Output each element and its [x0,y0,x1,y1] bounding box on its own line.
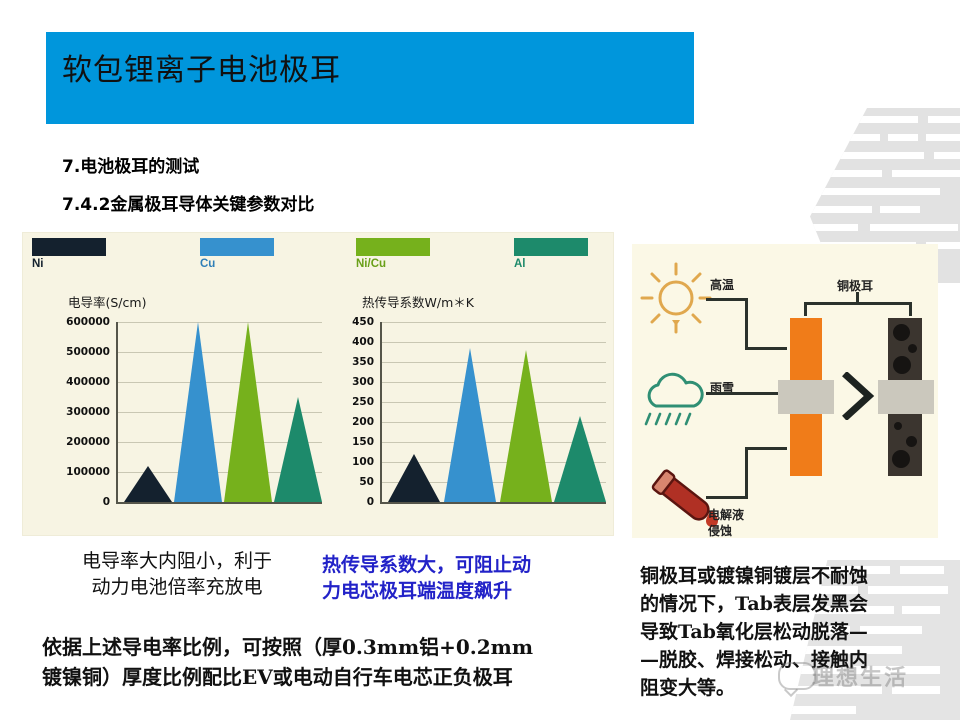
ytick-left-200000: 200000 [42,436,110,448]
ytick-left-600000: 600000 [42,316,110,328]
legend-label-al: Al [514,258,588,270]
greater-than-icon [841,372,875,420]
bar-nicu-thermal [500,350,552,502]
tab-sealant-left [778,380,834,414]
connector-high-temp-h1 [706,298,748,301]
caption-right-line1: 铜极耳或镀镍铜镀层不耐蚀 [640,562,952,590]
legend-label-nicu: Ni/Cu [356,258,430,270]
ytick-right-350: 350 [334,356,374,368]
x-axis-left-chart [116,502,322,504]
corrosion-spot [893,324,910,341]
slide-canvas: 软包锂离子电池极耳 7.电池极耳的测试 7.4.2金属极耳导体关键参数对比 Ni… [0,0,960,720]
bar-al-thermal [554,416,606,502]
caption-right-line2: 的情况下，Tab表层发黑会 [640,590,952,618]
section-heading-742: 7.4.2金属极耳导体关键参数对比 [62,190,314,215]
ytick-left-300000: 300000 [42,406,110,418]
caption-right: 铜极耳或镀镍铜镀层不耐蚀 的情况下，Tab表层发黑会 导致Tab氧化层松动脱落—… [640,562,952,702]
x-axis-right-chart [380,502,606,504]
ytick-left-400000: 400000 [42,376,110,388]
caption-thermal: 热传导系数大，可阻止动 力电芯极耳端温度飙升 [322,552,612,604]
label-high-temperature: 高温 [710,276,734,293]
caption-bottom-line2: 镀镍铜）厚度比例配比EV或电动自行车电芯正负极耳 [42,662,622,692]
caption-conductivity-line1: 电导率大内阻小，利于 [52,548,302,574]
label-electrolyte-line1: 电解液 [708,506,744,523]
connector-electrolyte-h1 [706,496,748,499]
ytick-right-250: 250 [334,396,374,408]
corrosion-spot [906,436,917,447]
corrosion-spot [908,344,917,353]
connector-electrolyte-v [745,447,748,499]
bracket-left-leg [804,302,807,316]
chart-thermal: 450 400 350 300 250 200 150 100 50 0 [334,322,606,522]
legend-item-ni: Ni [32,238,106,270]
ytick-right-50: 50 [334,476,374,488]
legend-swatch-nicu [356,238,430,256]
chart-legend: Ni Cu Ni/Cu Al [22,232,614,280]
ytick-right-400: 400 [334,336,374,348]
legend-item-nicu: Ni/Cu [356,238,430,270]
ytick-left-100000: 100000 [42,466,110,478]
legend-swatch-cu [200,238,274,256]
ytick-left-0: 0 [42,496,110,508]
charts-panel: Ni Cu Ni/Cu Al 电导率(S/cm) 600000 500000 4… [22,232,614,536]
legend-swatch-al [514,238,588,256]
corrosion-diagram: 高温 雨雪 电解液 侵蚀 铜极耳 [632,244,938,538]
bar-cu-thermal [444,348,496,502]
legend-label-ni: Ni [32,258,106,270]
ytick-right-450: 450 [334,316,374,328]
corrosion-spot [893,356,911,374]
section-heading-7: 7.电池极耳的测试 [62,152,199,177]
ytick-right-100: 100 [334,456,374,468]
sun-icon [638,260,714,336]
bracket-right-leg [909,302,912,316]
ytick-right-300: 300 [334,376,374,388]
caption-thermal-line1: 热传导系数大，可阻止动 [322,552,612,578]
page-title: 软包锂离子电池极耳 [62,45,341,89]
connector-high-temp-h2 [745,347,787,350]
chart-title-conductivity: 电导率(S/cm) [68,292,146,311]
tab-sealant-right [878,380,934,414]
label-electrolyte-line2: 侵蚀 [708,522,732,538]
caption-right-line3: 导致Tab氧化层松动脱落— [640,618,952,646]
chart-conductivity: 600000 500000 400000 300000 200000 10000… [50,322,322,522]
connector-electrolyte-h2 [745,447,787,450]
caption-right-line5: 阻变大等。 [640,674,952,702]
corrosion-spot [892,450,910,468]
caption-bottom-line1: 依据上述导电率比例，可按照（厚0.3mm铝+0.2mm [42,632,622,662]
connector-high-temp-v [745,298,748,349]
label-copper-tab: 铜极耳 [837,277,873,294]
chart-title-thermal: 热传导系数W/m＊K [362,292,474,311]
caption-conductivity-line2: 动力电池倍率充放电 [52,574,302,600]
legend-item-cu: Cu [200,238,274,270]
bracket-stem [856,292,859,303]
ytick-right-150: 150 [334,436,374,448]
ytick-left-500000: 500000 [42,346,110,358]
connector-rain-snow [706,392,788,395]
caption-bottom: 依据上述导电率比例，可按照（厚0.3mm铝+0.2mm 镀镍铜）厚度比例配比EV… [42,632,622,692]
caption-conductivity: 电导率大内阻小，利于 动力电池倍率充放电 [52,548,302,600]
y-axis-right-chart [380,322,382,504]
legend-item-al: Al [514,238,588,270]
y-axis-left-chart [116,322,118,504]
caption-thermal-line2: 力电芯极耳端温度飙升 [322,578,612,604]
legend-label-cu: Cu [200,258,274,270]
caption-right-line4: —脱胶、焊接松动、接触内 [640,646,952,674]
ytick-right-0: 0 [334,496,374,508]
legend-swatch-ni [32,238,106,256]
ytick-right-200: 200 [334,416,374,428]
cloud-rain-icon [638,372,714,434]
corrosion-spot [894,422,902,430]
